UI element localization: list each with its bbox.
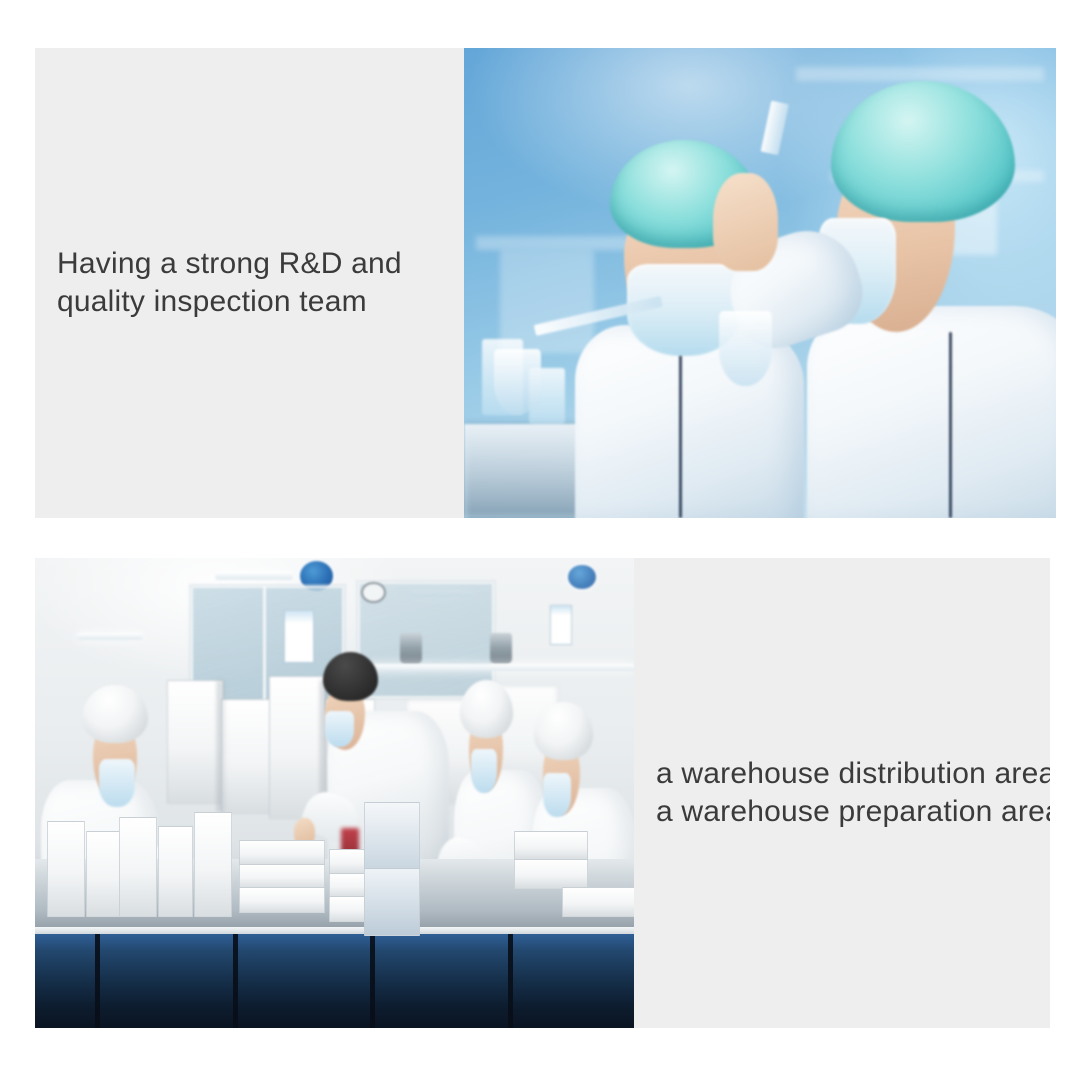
warehouse-worker-2-hairnet (323, 652, 378, 701)
warehouse-worker-3-hairnet (460, 680, 513, 738)
lab-held-flask (719, 311, 772, 386)
lab-worker-front-coat-trim (679, 348, 682, 518)
carton-foreground-1 (47, 821, 85, 917)
warehouse-worker-4-hairnet (534, 702, 592, 760)
warehouse-worker-1-hairnet (82, 685, 148, 743)
warehouse-worker-3-mask (471, 749, 497, 794)
rd-quality-caption-pane: Having a strong R&D and quality inspecti… (35, 48, 464, 518)
carton-stack-flat-3 (239, 887, 325, 913)
lab-worker-profile-hairnet (831, 81, 1015, 222)
ceiling-light-2 (77, 633, 143, 640)
carton-tall-front-1 (364, 802, 420, 870)
table-leg-2 (233, 934, 238, 1028)
carton-stack-flat-1 (239, 840, 325, 866)
warehouse-panel: a warehouse distribution area a warehous… (35, 558, 1050, 1028)
carton-stack-gap-1 (217, 680, 227, 812)
carton-foreground-5 (194, 812, 232, 917)
lab-bench-flask (494, 349, 541, 415)
lab-worker-profile-coat-trim (949, 332, 952, 518)
carton-tall-front-2 (364, 868, 420, 936)
table-leg-3 (370, 934, 375, 1028)
rd-quality-caption-line-1: Having a strong R&D and (57, 245, 454, 283)
lab-worker-profile-hand (713, 173, 778, 270)
blue-circular-sign-2 (568, 565, 596, 589)
carton-right-2 (514, 859, 588, 889)
lab-quality-inspection-photo (464, 48, 1056, 518)
table-leg-1 (95, 934, 100, 1028)
carton-right-3 (562, 887, 634, 917)
carton-foreground-3 (119, 817, 157, 918)
carton-stack-b (221, 699, 271, 814)
carton-foreground-2 (86, 831, 121, 918)
warehouse-caption-line-1: a warehouse distribution area (656, 755, 1040, 793)
warehouse-caption-line-2: a warehouse preparation area (656, 793, 1040, 831)
warehouse-packing-photo (35, 558, 634, 1028)
warehouse-worker-2-mask (325, 711, 354, 748)
warehouse-worker-1-mask (99, 759, 135, 806)
wall-notice-poster-2 (550, 605, 572, 645)
lab-worker-profile-coat (807, 306, 1056, 518)
ceiling-light-1 (215, 572, 293, 580)
table-base-frame (35, 934, 634, 1028)
stainless-pot-2 (490, 633, 512, 664)
rd-quality-caption-line-2: quality inspection team (57, 283, 454, 321)
warehouse-worker-4-mask (543, 773, 571, 818)
wall-notice-poster (284, 610, 315, 664)
table-leg-4 (508, 934, 513, 1028)
carton-right-1 (514, 831, 588, 861)
interior-window-mullion (263, 586, 266, 708)
lab-worker-profile (784, 76, 1056, 518)
rd-quality-panel: Having a strong R&D and quality inspecti… (35, 48, 1056, 518)
carton-stack-flat-2 (239, 864, 325, 890)
warehouse-caption-pane: a warehouse distribution area a warehous… (634, 558, 1050, 1028)
carton-foreground-4 (158, 826, 193, 917)
